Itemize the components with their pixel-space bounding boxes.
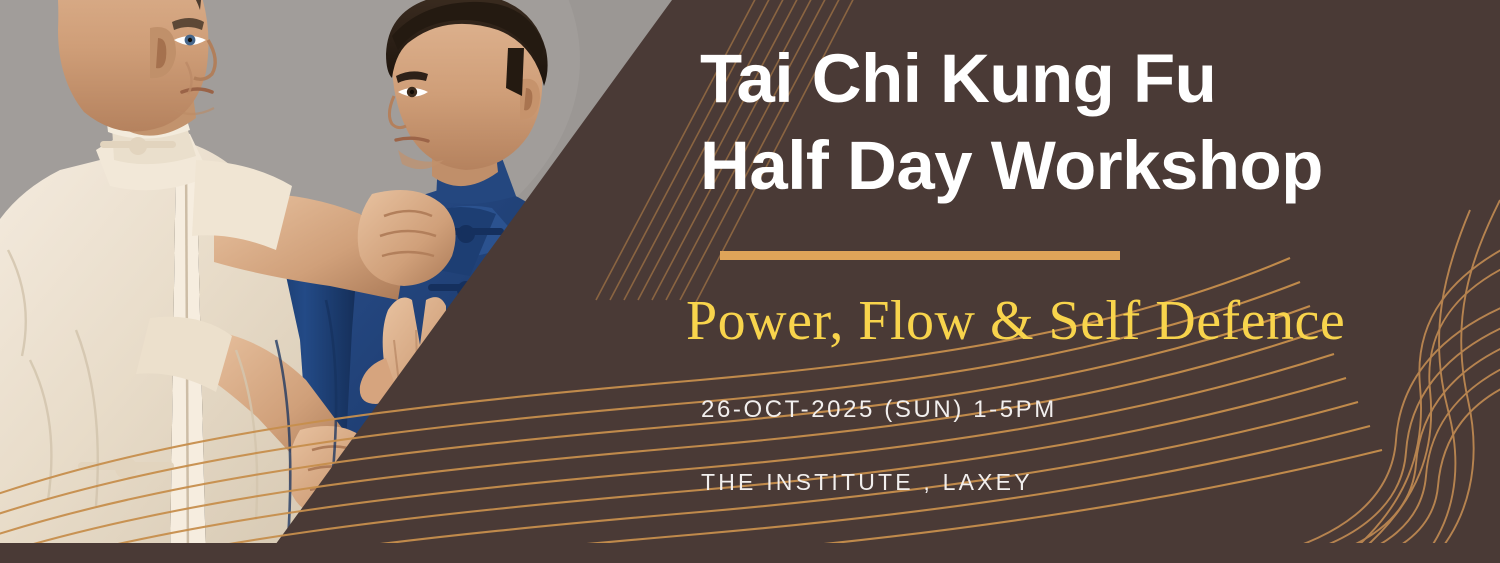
event-date: 26-OCT-2025 (SUN) 1-5PM: [701, 396, 1057, 424]
page-title: Tai Chi Kung Fu Half Day Workshop: [700, 36, 1460, 210]
banner-subtitle: Power, Flow & Self Defence: [686, 289, 1476, 353]
gold-divider: [720, 251, 1120, 260]
event-banner: Tai Chi Kung Fu Half Day Workshop Power,…: [0, 0, 1500, 563]
banner-content: Tai Chi Kung Fu Half Day Workshop Power,…: [700, 0, 1490, 563]
event-venue: THE INSTITUTE , LAXEY: [701, 469, 1033, 496]
